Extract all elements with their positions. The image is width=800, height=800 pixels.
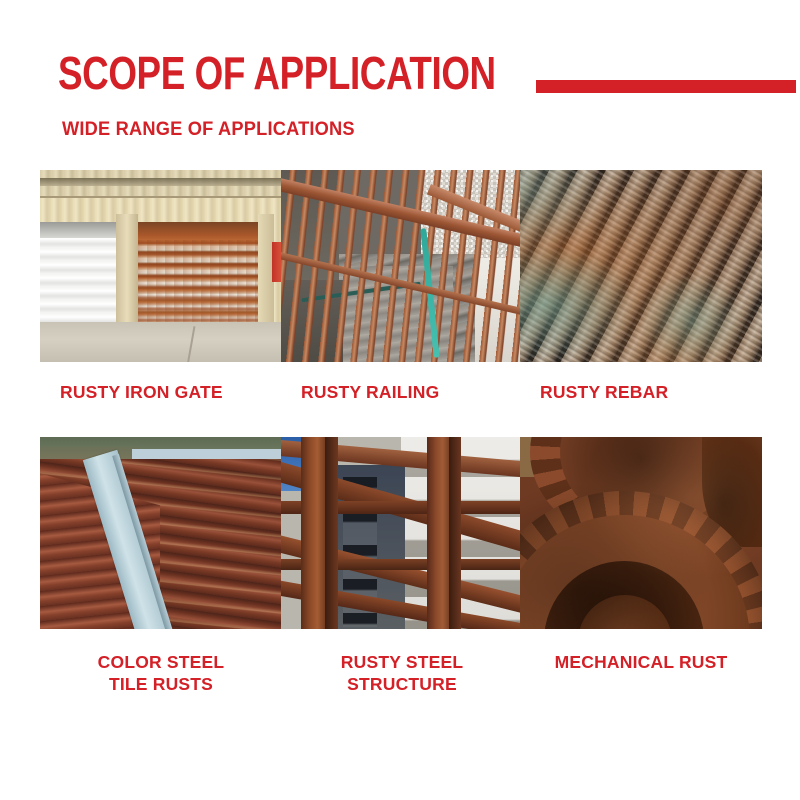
thumbnail-rusty-steel-structure[interactable]	[281, 437, 523, 629]
caption-line-1: RUSTY STEEL	[281, 651, 523, 673]
warehouse-roof-shadow	[40, 178, 282, 186]
gallery-cell-rusty-steel-structure[interactable]: RUSTY STEEL STRUCTURE	[281, 437, 523, 695]
page-subtitle: WIDE RANGE OF APPLICATIONS	[62, 119, 355, 141]
gallery-cell-rusty-rebar[interactable]: RUSTY REBAR	[520, 170, 762, 403]
rust-texture-overlay	[520, 437, 762, 629]
thumbnail-rusty-railing[interactable]	[281, 170, 523, 362]
header-banner: SCOPE OF APPLICATION WIDE RANGE OF APPLI…	[0, 0, 800, 170]
application-gallery: RUSTY IRON GATE RUSTY RAILING	[0, 170, 800, 800]
gallery-row-1: RUSTY IRON GATE RUSTY RAILING	[0, 170, 800, 435]
caption-rusty-railing: RUSTY RAILING	[281, 381, 523, 403]
caption-line-2: TILE RUSTS	[40, 673, 282, 695]
thumbnail-rusty-rebar[interactable]	[520, 170, 762, 362]
gallery-cell-color-steel-tile-rusts[interactable]: COLOR STEEL TILE RUSTS	[40, 437, 282, 695]
title-underline-bar	[536, 80, 796, 93]
caption-rusty-iron-gate: RUSTY IRON GATE	[40, 381, 282, 403]
caption-rusty-rebar: RUSTY REBAR	[520, 381, 762, 403]
rebar-teal-patina	[520, 170, 762, 362]
gallery-cell-mechanical-rust[interactable]: MECHANICAL RUST	[520, 437, 762, 673]
gallery-cell-rusty-iron-gate[interactable]: RUSTY IRON GATE	[40, 170, 282, 403]
steel-column-left-web	[325, 437, 338, 629]
thumbnail-color-steel-tile-rusts[interactable]	[40, 437, 282, 629]
steel-column-right-web	[449, 437, 461, 629]
caption-line-2: STRUCTURE	[281, 673, 523, 695]
caption-rusty-steel-structure: RUSTY STEEL STRUCTURE	[281, 651, 523, 695]
white-door-header	[40, 222, 116, 238]
caption-mechanical-rust: MECHANICAL RUST	[520, 651, 762, 673]
caption-line-1: COLOR STEEL	[40, 651, 282, 673]
caption-color-steel-tile-rusts: COLOR STEEL TILE RUSTS	[40, 651, 282, 695]
page-title: SCOPE OF APPLICATION	[58, 50, 496, 96]
gallery-row-2: COLOR STEEL TILE RUSTS	[0, 437, 800, 737]
gallery-cell-rusty-railing[interactable]: RUSTY RAILING	[281, 170, 523, 403]
thumbnail-mechanical-rust[interactable]	[520, 437, 762, 629]
thumbnail-rusty-iron-gate[interactable]	[40, 170, 282, 362]
caption-line-1: MECHANICAL RUST	[520, 651, 762, 673]
concrete-ground	[40, 322, 282, 362]
